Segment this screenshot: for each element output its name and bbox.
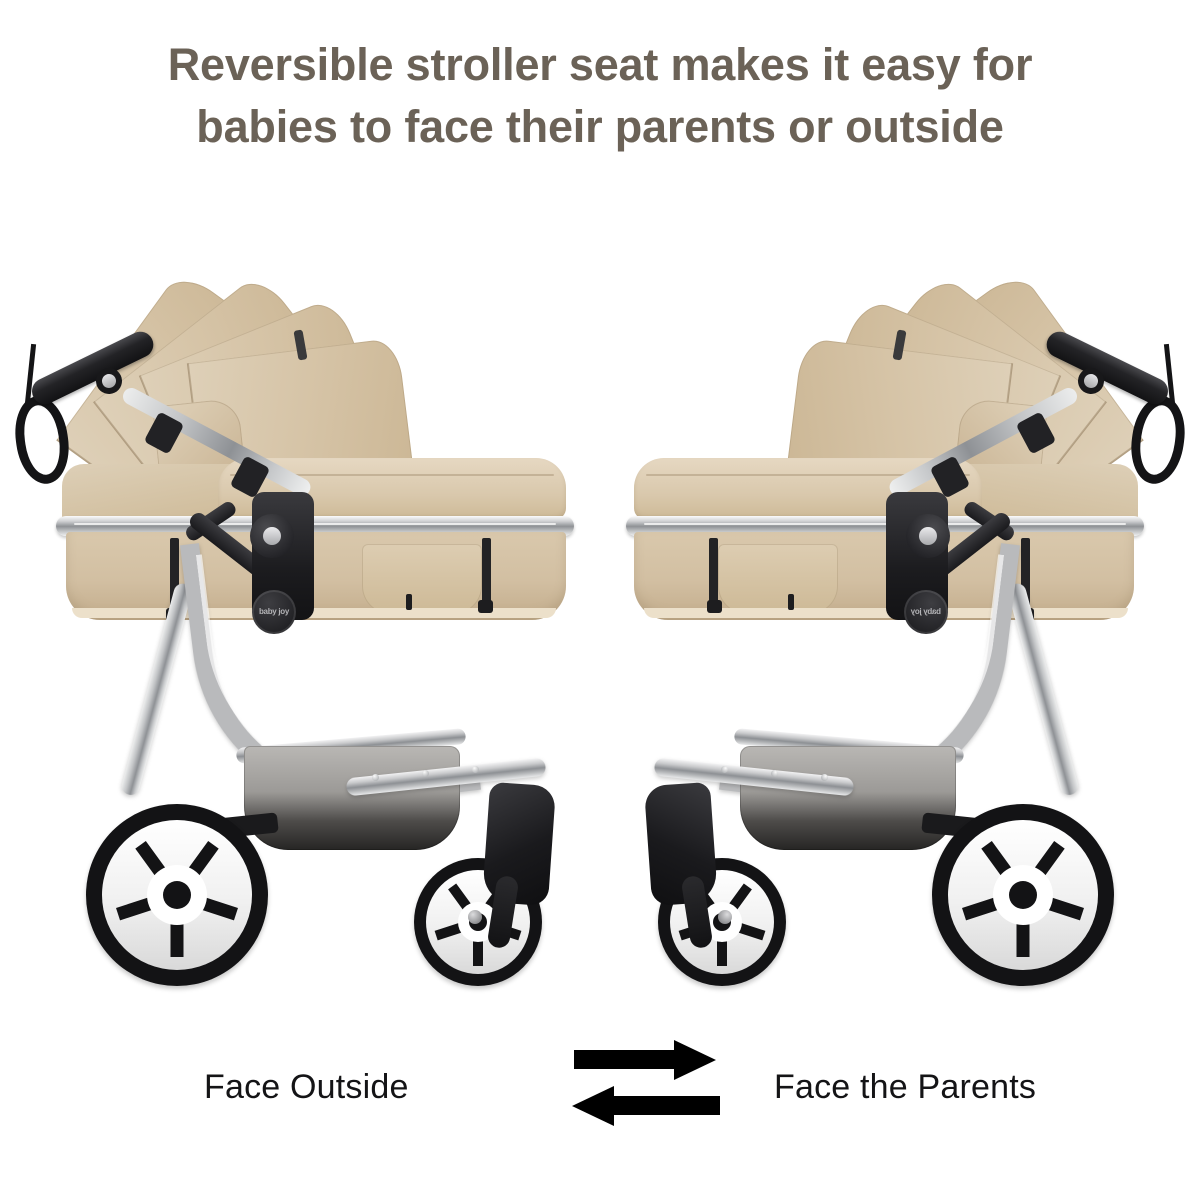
reversible-arrows	[570, 1040, 720, 1132]
headline-line-1: Reversible stroller seat makes it easy f…	[0, 34, 1200, 96]
stroller-left-illustration: baby joy	[0, 252, 600, 992]
rail-rivet	[472, 766, 479, 773]
swivel-fork	[482, 782, 556, 906]
arrow-shaft	[614, 1096, 720, 1115]
rail-rivet	[821, 774, 828, 781]
hub-release-knob	[250, 514, 294, 558]
rear-wheel	[932, 804, 1114, 986]
hub-release-knob	[906, 514, 950, 558]
brand-badge: baby joy	[904, 590, 948, 634]
swivel-fork-pin	[718, 910, 732, 924]
rail-rivet	[372, 774, 379, 781]
brand-badge: baby joy	[252, 590, 296, 634]
arrow-head	[572, 1086, 614, 1126]
wrist-strap	[14, 344, 54, 466]
fastening-strap	[482, 538, 491, 608]
caption-face-outside: Face Outside	[204, 1068, 409, 1107]
stroller-right-illustration: baby joy	[600, 252, 1200, 992]
arrow-head	[674, 1040, 716, 1080]
arrow-shaft	[574, 1050, 678, 1069]
strap-buckle	[707, 600, 722, 613]
caption-face-the-parents: Face the Parents	[774, 1068, 1036, 1107]
rear-wheel	[86, 804, 268, 986]
wheel-rim	[948, 820, 1098, 970]
brand-badge-label: baby joy	[259, 608, 289, 616]
storage-basket	[244, 746, 460, 850]
rail-rivet	[771, 770, 778, 777]
stroller-right: baby joy	[600, 252, 1200, 992]
arrow-right-icon	[570, 1040, 720, 1080]
rail-rivet	[721, 766, 728, 773]
wheel-rim	[102, 820, 252, 970]
arrow-left-icon	[570, 1086, 720, 1126]
wheel-hub-bolt	[163, 881, 191, 909]
brand-badge-label: baby joy	[911, 608, 941, 616]
wrist-strap	[1146, 344, 1186, 466]
swivel-fork-pin	[468, 910, 482, 924]
strap-buckle	[478, 600, 493, 613]
fastening-strap	[709, 538, 718, 608]
storage-basket	[740, 746, 956, 850]
wheel-hub-bolt	[1009, 881, 1037, 909]
headline-line-2: babies to face their parents or outside	[0, 96, 1200, 158]
rail-rivet	[422, 770, 429, 777]
stroller-left: baby joy	[0, 252, 600, 992]
headline: Reversible stroller seat makes it easy f…	[0, 34, 1200, 157]
